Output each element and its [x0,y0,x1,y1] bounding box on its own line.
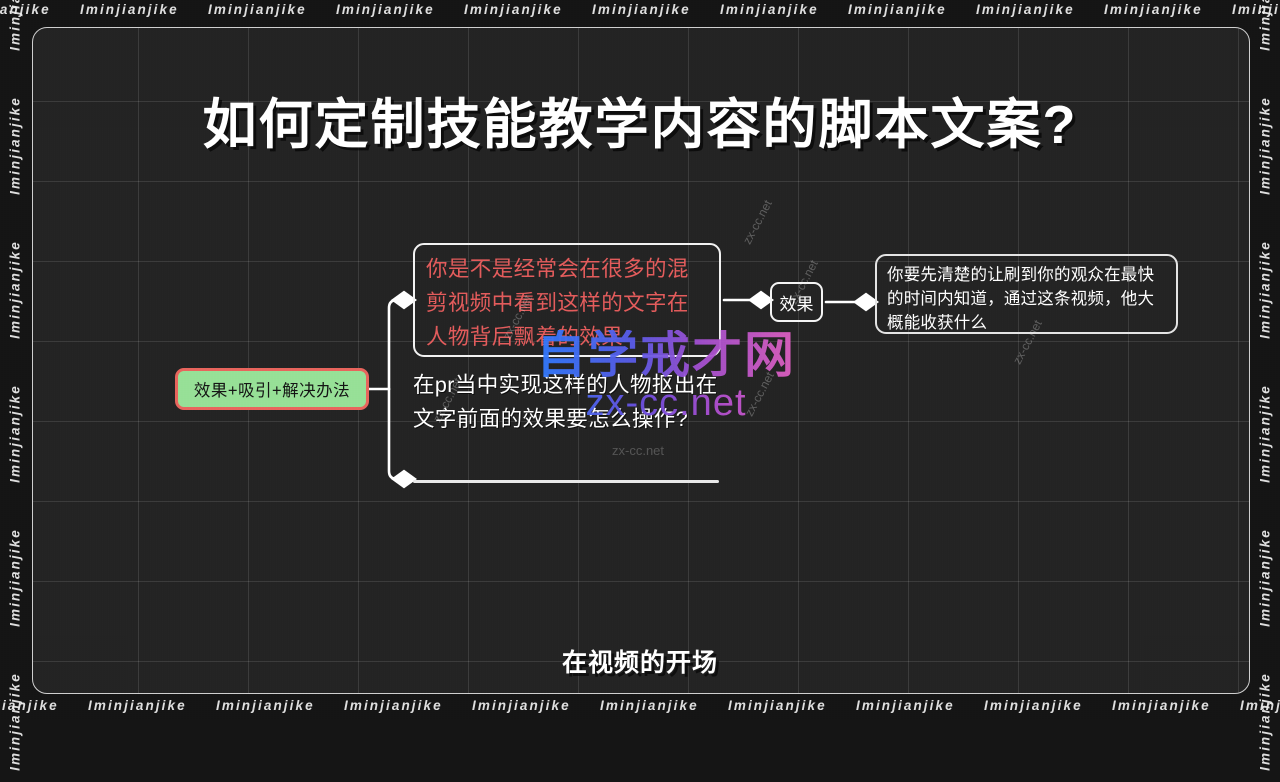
watermark-edge: Iminjianjike [984,698,1083,713]
watermark-edge: Iminjianjike [600,698,699,713]
node-hook-label: 你是不是经常会在很多的混剪视频中看到这样的文字在人物背后飘着的效果 [426,257,689,349]
watermark-edge: Iminjianjike [856,698,955,713]
watermark-edge: Iminjianjike [88,698,187,713]
watermark-edge: Iminjianjike [344,698,443,713]
watermark-edge: Iminjianjike [1112,698,1211,713]
node-effect[interactable]: 效果 [770,282,823,322]
watermark-edge: Iminjianjike [336,2,435,17]
watermark-edge: Iminjianjike [1258,662,1273,782]
watermark-edge: Iminjianjike [0,2,51,17]
watermark-edge: Iminjianjike [80,2,179,17]
node-effect-label: 效果 [780,290,814,315]
watermark-edge: Iminjianjike [1232,2,1280,17]
watermark-edge: Iminjianjike [1258,374,1273,494]
watermark-edge: Iminjianjike [8,0,23,62]
watermark-edge: Iminjianjike [720,2,819,17]
watermark-edge: Iminjianjike [0,698,59,713]
watermark-edge: Iminjianjike [8,374,23,494]
page-background: 如何定制技能教学内容的脚本文案? 效果+吸引+解决办法 你是不是经常会在很多的混… [0,0,1280,720]
page-title: 如何定制技能教学内容的脚本文案? [0,80,1280,159]
node-question[interactable]: 在pr当中实现这样的人物抠出在文字前面的效果要怎么操作? [413,368,728,436]
watermark-edge: Iminjianjike [8,518,23,638]
watermark-edge: Iminjianjike [1104,2,1203,17]
watermark-edge: Iminjianjike [216,698,315,713]
watermark-edge: Iminjianjike [8,230,23,350]
node-detail-label: 你要先清楚的让刷到你的观众在最快的时间内知道，通过这条视频，他大概能收获什么 [887,266,1154,332]
watermark-edge: Iminjianjike [1258,230,1273,350]
watermark-edge: Iminjianjike [592,2,691,17]
watermark-edge: Iminjianjike [1258,518,1273,638]
node-detail[interactable]: 你要先清楚的让刷到你的观众在最快的时间内知道，通过这条视频，他大概能收获什么 [875,254,1178,334]
node-question-underline [413,480,719,483]
watermark-edge: Iminjianjike [472,698,571,713]
watermark-edge: Iminjianjike [208,2,307,17]
watermark-edge: Iminjianjike [8,662,23,782]
node-hook[interactable]: 你是不是经常会在很多的混剪视频中看到这样的文字在人物背后飘着的效果 [413,243,721,357]
node-question-label: 在pr当中实现这样的人物抠出在文字前面的效果要怎么操作? [413,373,718,431]
watermark-edge: Iminjianjike [1258,0,1273,62]
watermark-edge: Iminjianjike [848,2,947,17]
bottom-caption: 在视频的开场 [0,643,1280,679]
watermark-edge: Iminjianjike [1240,698,1280,713]
watermark-edge: Iminjianjike [464,2,563,17]
watermark-edge: Iminjianjike [976,2,1075,17]
node-root[interactable]: 效果+吸引+解决办法 [175,368,369,410]
node-root-label: 效果+吸引+解决办法 [194,377,350,401]
watermark-edge: Iminjianjike [728,698,827,713]
